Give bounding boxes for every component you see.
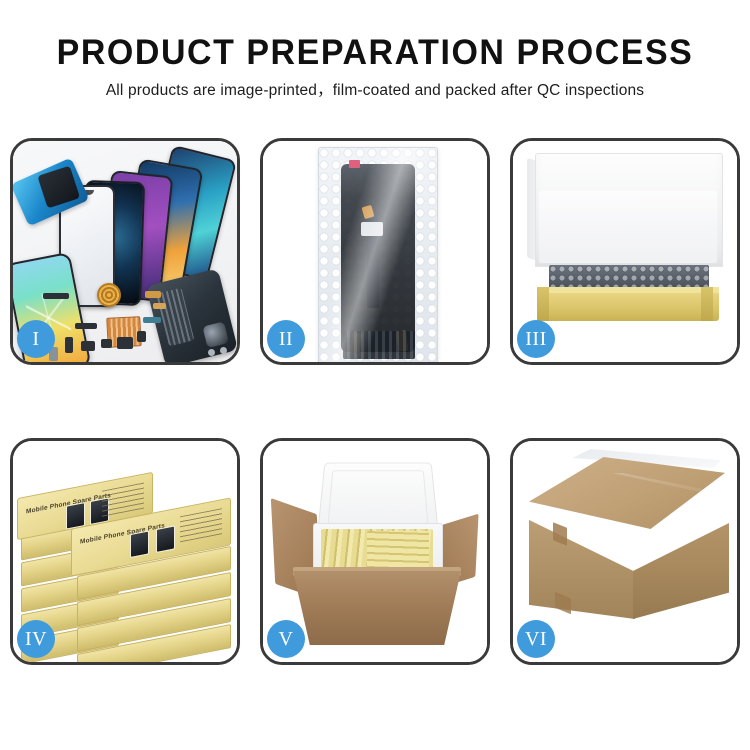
box-label-text: Mobile Phone Spare Parts <box>80 522 165 546</box>
page-title: PRODUCT PREPARATION PROCESS <box>11 33 739 73</box>
page-header: PRODUCT PREPARATION PROCESS All products… <box>0 0 750 102</box>
step-panel-5: V <box>260 438 490 665</box>
step-badge-3: III <box>517 320 555 358</box>
step-badge-5: V <box>267 620 305 658</box>
step-panel-1: I <box>10 138 240 365</box>
step-badge-6: VI <box>517 620 555 658</box>
spare-part-icon <box>75 323 97 329</box>
box-spec-lines-icon <box>180 508 222 542</box>
box-product-photo-icon <box>130 530 149 558</box>
step-panel-6: VI <box>510 438 740 665</box>
box-spec-lines-icon <box>102 483 144 517</box>
copper-coil-icon <box>97 283 121 307</box>
spare-part-icon <box>153 303 166 309</box>
step-panel-4: Mobile Phone Spare Parts Mobile Phone Sp… <box>10 438 240 665</box>
connector-icon <box>361 222 383 236</box>
bubble-wrap-bag-icon <box>318 147 438 362</box>
foam-liner-icon <box>539 191 717 263</box>
step-badge-2: II <box>267 320 305 358</box>
spare-part-icon <box>220 347 227 354</box>
box-product-photo-icon <box>156 525 175 553</box>
step-badge-4: IV <box>17 620 55 658</box>
box-tray-icon <box>537 293 719 321</box>
spare-part-icon <box>137 331 146 342</box>
carton-body-icon <box>293 571 461 645</box>
step-panel-3: III <box>510 138 740 365</box>
spare-part-icon <box>208 349 215 356</box>
spare-part-icon <box>145 291 161 298</box>
step-badge-1: I <box>17 320 55 358</box>
spare-part-icon <box>65 337 73 353</box>
spare-part-icon <box>117 337 133 349</box>
box-tray-edge-icon <box>537 287 549 321</box>
screen-bottom-icon <box>343 331 415 359</box>
spare-part-icon <box>43 293 69 299</box>
step-panel-2: II <box>260 138 490 365</box>
spare-part-icon <box>81 341 95 351</box>
page-subtitle: All products are image-printed，film-coat… <box>0 80 750 102</box>
spare-part-icon <box>143 317 161 323</box>
process-steps-grid: I II <box>10 138 740 738</box>
box-tray-edge-icon <box>701 287 713 321</box>
spare-part-icon <box>101 339 112 348</box>
qc-label-icon <box>349 160 360 168</box>
